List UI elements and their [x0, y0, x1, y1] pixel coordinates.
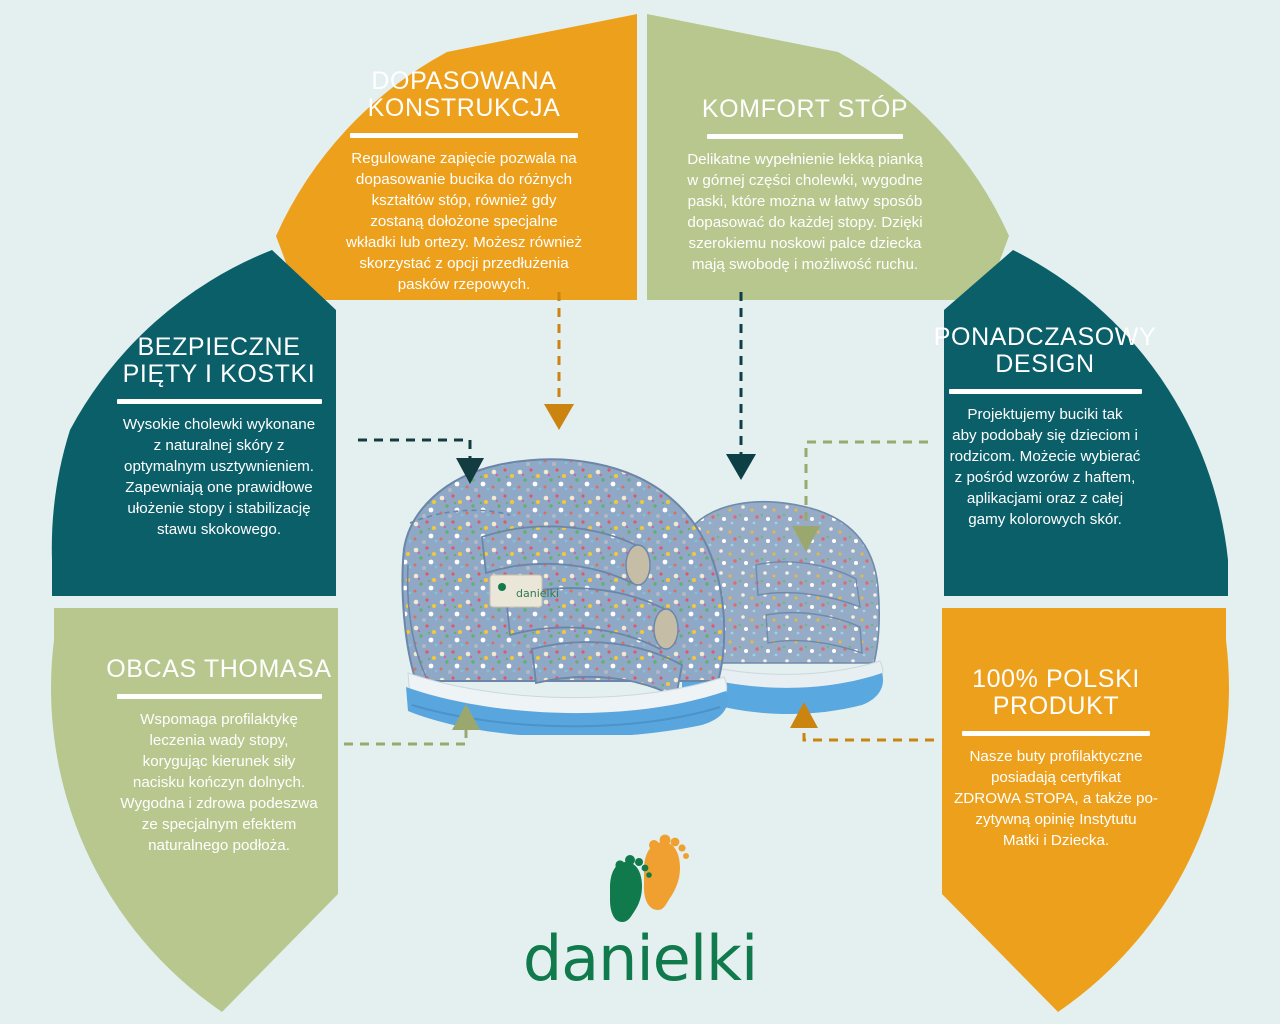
connector-obcas	[344, 704, 480, 744]
connector-design	[792, 442, 928, 552]
infographic-canvas: DOPASOWANA KONSTRUKCJA Regulowane zapięc…	[0, 0, 1280, 1024]
connector-komfort	[726, 292, 756, 480]
connector-konstrukcja	[544, 292, 574, 430]
connector-bezpieczne	[358, 440, 484, 484]
brand-logo: danielki	[0, 834, 1280, 990]
footprints-icon	[588, 834, 692, 926]
brand-wordmark: danielki	[523, 928, 757, 990]
footprint-right-icon	[644, 835, 689, 910]
connector-polski	[790, 702, 934, 740]
